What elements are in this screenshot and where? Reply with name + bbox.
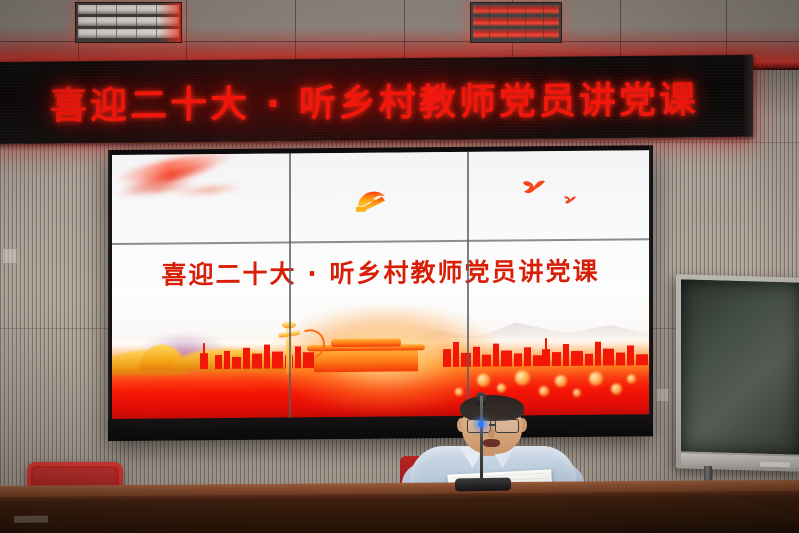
ceiling-lamp-left-icon	[75, 2, 182, 43]
bokeh-light	[573, 389, 581, 397]
led-banner: 喜迎二十大 · 听乡村教师党员讲党课	[0, 55, 753, 144]
podium-desk	[0, 480, 799, 533]
microphone-gooseneck	[480, 396, 483, 482]
dove-icon-1	[521, 178, 547, 203]
bokeh-light	[455, 388, 463, 396]
whiteboard-screen[interactable]	[681, 279, 799, 454]
bokeh-light	[515, 370, 530, 385]
panel-seam-vertical	[289, 153, 291, 418]
cpc-hammer-sickle-emblem-icon	[352, 187, 392, 215]
desk-label-plate	[14, 516, 48, 523]
video-wall-slide: 喜迎二十大 · 听乡村教师党员讲党课	[111, 150, 650, 420]
wall-switch-plate	[656, 388, 669, 402]
bokeh-light	[477, 374, 490, 387]
microphone-base[interactable]	[455, 478, 511, 492]
speaker-mouth	[483, 439, 500, 447]
microphone-status-led	[478, 421, 484, 427]
dove-icon-2	[563, 193, 577, 211]
bokeh-light	[611, 384, 622, 395]
whiteboard-brand-logo	[760, 462, 790, 468]
ceiling-lamp-right-icon	[470, 2, 562, 43]
wall-socket-plate	[2, 248, 17, 264]
bokeh-light	[627, 374, 636, 383]
led-banner-text: 喜迎二十大 · 听乡村教师党员讲党课	[0, 69, 753, 130]
interactive-whiteboard[interactable]	[676, 274, 799, 472]
bokeh-light	[555, 375, 567, 387]
bokeh-light	[497, 384, 506, 393]
tiananmen-gate-icon	[314, 348, 418, 372]
bokeh-light	[539, 386, 549, 396]
led-video-wall: 喜迎二十大 · 听乡村教师党员讲党课	[108, 145, 653, 441]
slide-title: 喜迎二十大 · 听乡村教师党员讲党课	[111, 252, 650, 293]
panel-seam-vertical	[467, 152, 469, 417]
glasses-lens-right	[495, 419, 519, 433]
conference-room-photo: 喜迎二十大 · 听乡村教师党员讲党课	[0, 0, 799, 533]
bokeh-light	[589, 372, 603, 386]
tiananmen-upper-tier	[331, 338, 401, 347]
